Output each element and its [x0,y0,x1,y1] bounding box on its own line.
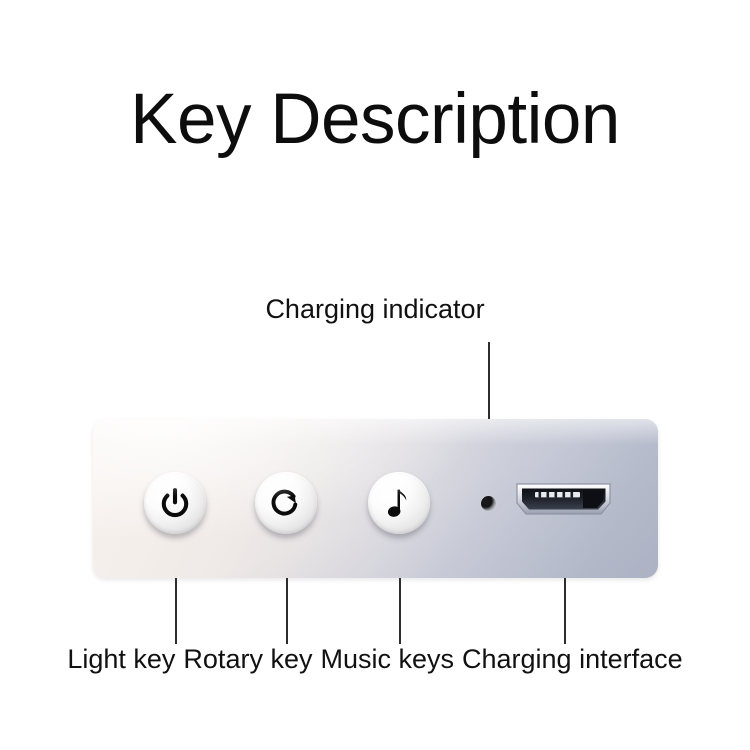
light-key-button[interactable] [144,472,206,534]
leader-line-music-keys [399,578,401,644]
product-key-description-infographic: Key Description Charging indicator [0,0,750,750]
callout-label-charging-interface: Charging interface [458,646,687,673]
power-icon [158,486,192,520]
rotary-key-button[interactable] [255,472,317,534]
callout-label-charging-indicator: Charging indicator [0,296,750,323]
music-keys-button[interactable] [368,472,430,534]
callout-label-music-keys: Music keys [316,646,458,673]
panel-top-highlight [93,419,658,445]
leader-line-rotary-key [286,578,288,644]
leader-line-light-key [175,578,177,644]
micro-usb-port-icon [513,479,614,519]
leader-line-charging-interface [564,578,566,644]
rotate-icon [268,485,304,521]
page-title: Key Description [0,84,750,155]
callout-label-rotary-key: Rotary key [179,646,316,673]
music-note-icon [382,485,416,521]
bottom-label-row: Light key Rotary key Music keys Charging… [0,646,750,673]
led-indicator-icon [481,496,496,511]
callout-label-light-key: Light key [63,646,179,673]
